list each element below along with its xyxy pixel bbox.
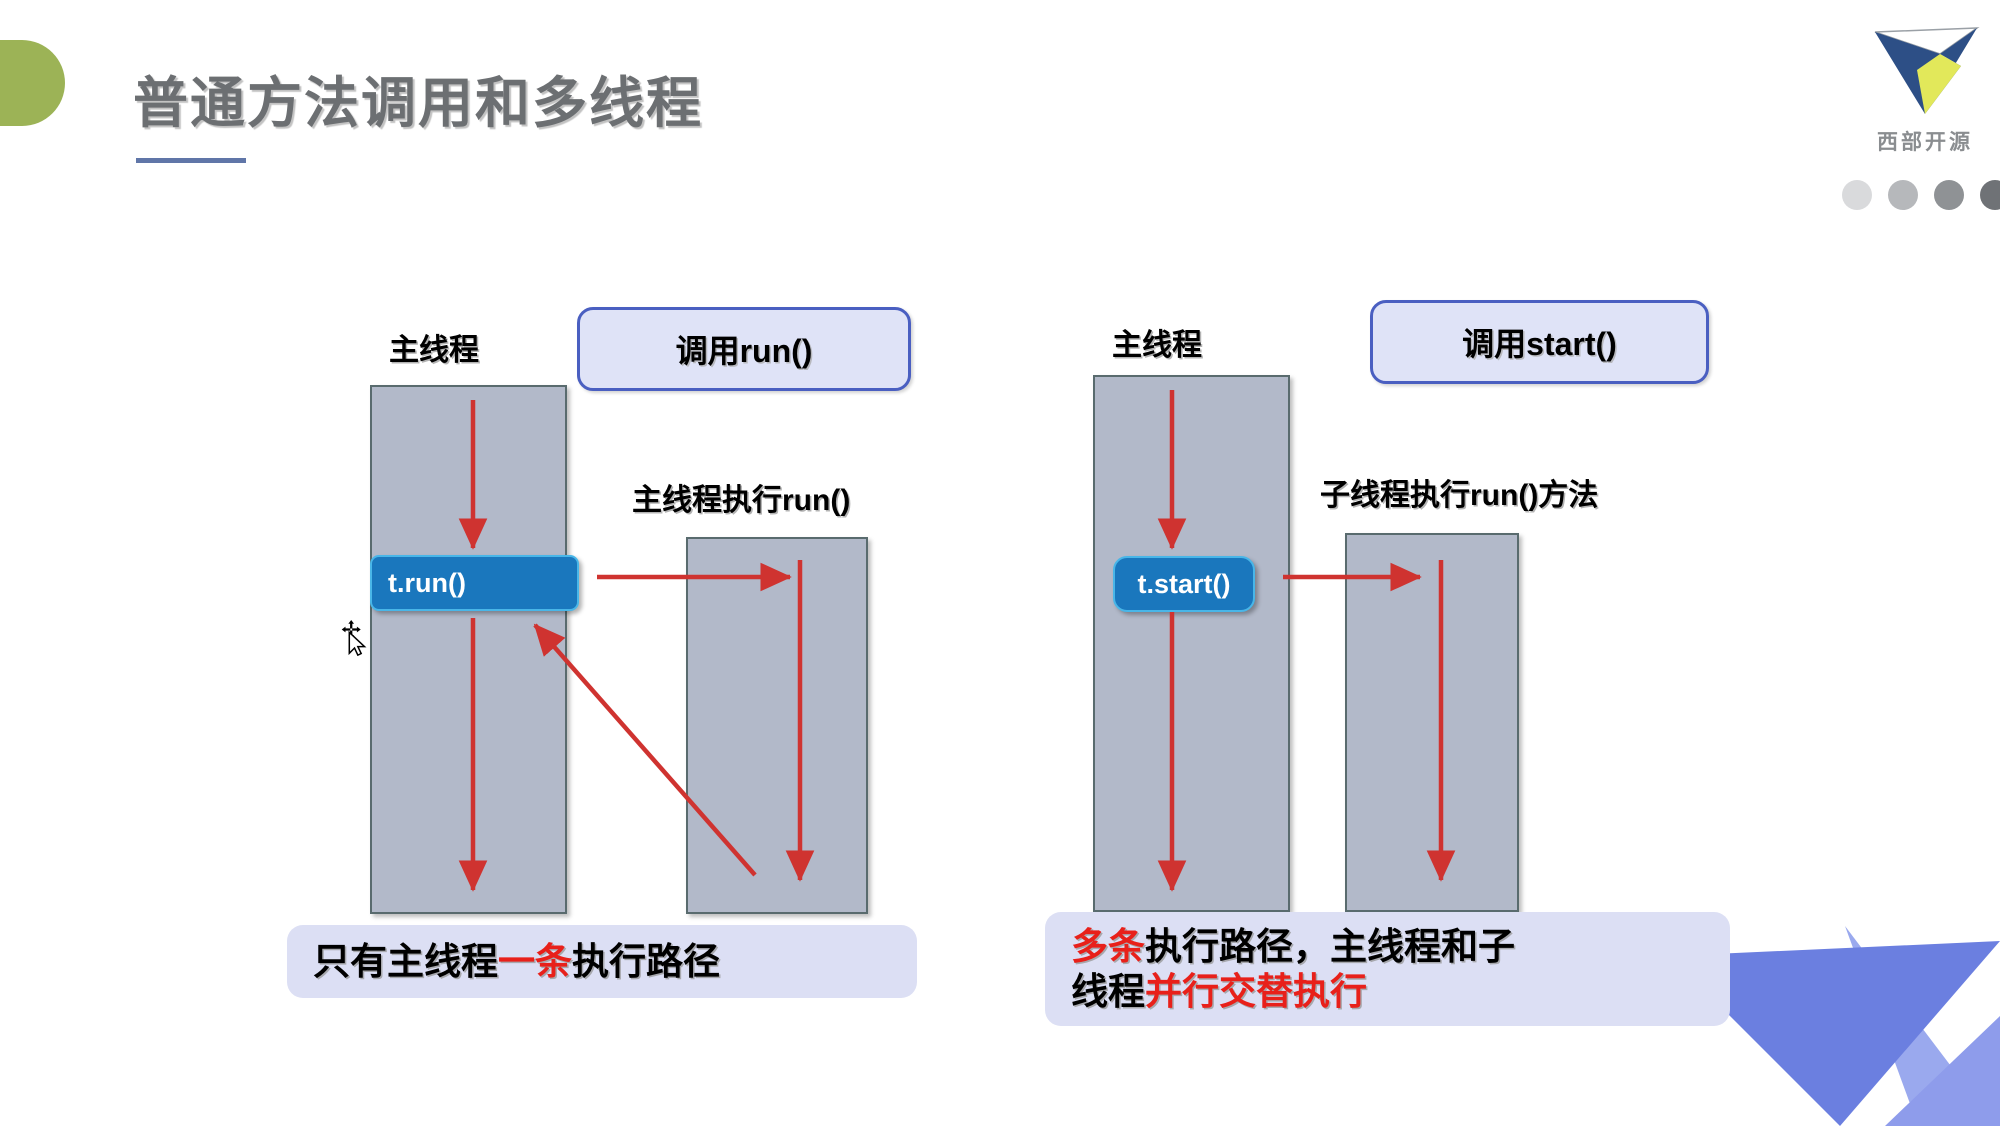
brand-name: 西部开源 bbox=[1840, 126, 2000, 156]
brand-logo: 西部开源 bbox=[1840, 14, 2000, 156]
left-callout-box: 调用run() bbox=[577, 307, 911, 391]
right-run-lane bbox=[1345, 533, 1519, 912]
right-caption-part1: 执行路径，主线程和子 bbox=[1145, 926, 1515, 967]
right-main-thread-label: 主线程 bbox=[1112, 320, 1202, 364]
right-callout-box: 调用start() bbox=[1370, 300, 1709, 384]
green-blob-decoration bbox=[0, 40, 65, 126]
left-caption-part2: 执行路径 bbox=[572, 941, 720, 982]
title-underline bbox=[136, 158, 246, 163]
right-caption-highlight2: 并行交替执行 bbox=[1145, 971, 1367, 1012]
left-trun-label: t.run() bbox=[388, 568, 466, 599]
left-main-thread-lane bbox=[370, 385, 567, 914]
dot-4 bbox=[1980, 180, 2000, 210]
move-cursor-icon bbox=[338, 620, 372, 658]
dot-3 bbox=[1934, 180, 1964, 210]
brand-dots bbox=[1842, 180, 2000, 210]
right-caption: 多条执行路径，主线程和子 线程并行交替执行 bbox=[1045, 912, 1730, 1026]
left-caption-part1: 只有主线程 bbox=[313, 941, 498, 982]
left-sub-label: 主线程执行run() bbox=[632, 475, 850, 519]
right-main-thread-lane bbox=[1093, 375, 1290, 912]
left-run-lane bbox=[686, 537, 868, 914]
right-tstart-pill[interactable]: t.start() bbox=[1113, 556, 1255, 612]
right-callout-label: 调用start() bbox=[1462, 319, 1617, 365]
left-caption-highlight: 一条 bbox=[498, 941, 572, 982]
triangle-arrow-logo-icon bbox=[1865, 14, 1985, 119]
left-trun-pill[interactable]: t.run() bbox=[370, 555, 579, 611]
left-caption: 只有主线程一条执行路径 bbox=[287, 925, 917, 998]
right-sub-label: 子线程执行run()方法 bbox=[1320, 470, 1598, 514]
right-tstart-label: t.start() bbox=[1138, 569, 1231, 600]
page-title: 普通方法调用和多线程 bbox=[133, 58, 703, 138]
right-caption-highlight1: 多条 bbox=[1071, 926, 1145, 967]
right-caption-part2: 线程 bbox=[1071, 971, 1145, 1012]
dot-2 bbox=[1888, 180, 1918, 210]
left-main-thread-label: 主线程 bbox=[389, 325, 479, 369]
dot-1 bbox=[1842, 180, 1872, 210]
left-callout-label: 调用run() bbox=[676, 326, 813, 372]
